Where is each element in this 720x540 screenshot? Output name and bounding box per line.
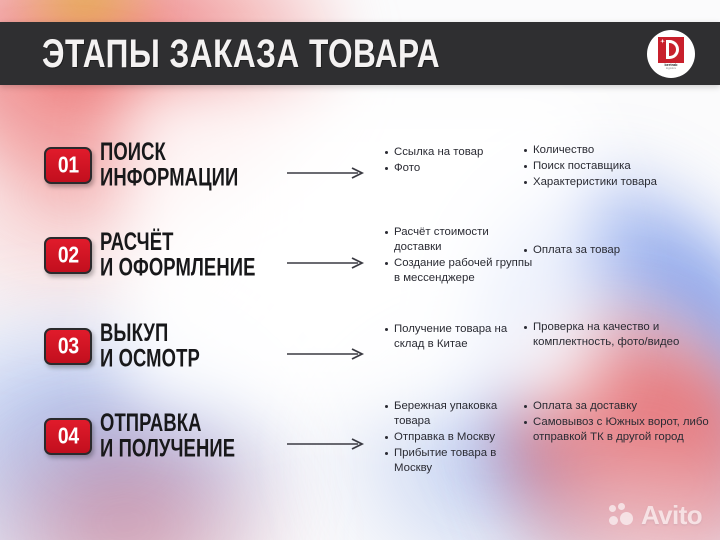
badge-number: 04: [58, 425, 79, 448]
step-row-03: 03 ВЫКУП И ОСМОТР Получение товара на ск…: [0, 300, 720, 390]
step-column-b-02: Оплата за товар: [522, 243, 712, 259]
poster-canvas: ЭТАПЫ ЗАКАЗА ТОВАРА bertrab logistics 01…: [0, 0, 720, 540]
brand-logo: bertrab logistics: [647, 30, 695, 78]
list-item: Получение товара на склад в Китае: [383, 322, 533, 352]
list-item: Характеристики товара: [522, 175, 712, 190]
list-item: Поиск поставщика: [522, 159, 712, 174]
bullet-list: Проверка на качество и комплектность, фо…: [522, 320, 712, 350]
logo-spark-icon: [660, 39, 665, 44]
bullet-list: Бережная упаковка товара Отправка в Моск…: [383, 399, 533, 476]
step-title-line2: И ОСМОТР: [100, 347, 200, 372]
step-title-02: РАСЧЁТ И ОФОРМЛЕНИЕ: [100, 231, 256, 281]
step-title-line1: ВЫКУП: [100, 322, 200, 347]
arrow-right-icon: [287, 348, 365, 360]
bullet-list: Расчёт стоимости доставки Создание рабоч…: [383, 225, 533, 286]
list-item: Прибытие товара в Москву: [383, 446, 533, 476]
step-column-b-04: Оплата за доставку Самовывоз с Южных вор…: [522, 399, 712, 446]
logo-mark-icon: [658, 37, 684, 63]
list-item: Отправка в Москву: [383, 430, 533, 445]
step-badge-03: 03: [44, 328, 92, 365]
badge-box: 01: [44, 147, 92, 184]
list-item: Ссылка на товар: [383, 145, 533, 160]
logo-subtext: logistics: [666, 68, 676, 71]
list-item: Оплата за товар: [522, 243, 712, 258]
step-title-line1: ОТПРАВКА: [100, 412, 235, 437]
step-badge-02: 02: [44, 237, 92, 274]
arrow-right-icon: [287, 257, 365, 269]
step-title-line2: И ОФОРМЛЕНИЕ: [100, 256, 256, 281]
avito-watermark: Avito: [609, 502, 702, 528]
step-title-03: ВЫКУП И ОСМОТР: [100, 322, 200, 372]
list-item: Фото: [383, 161, 533, 176]
bullet-list: Количество Поиск поставщика Характеристи…: [522, 143, 712, 190]
step-row-01: 01 ПОИСК ИНФОРМАЦИИ Ссылка на товар Фото: [0, 120, 720, 210]
step-column-a-04: Бережная упаковка товара Отправка в Моск…: [383, 399, 533, 477]
list-item: Бережная упаковка товара: [383, 399, 533, 429]
list-item: Расчёт стоимости доставки: [383, 225, 533, 255]
step-column-a-01: Ссылка на товар Фото: [383, 145, 533, 177]
step-badge-01: 01: [44, 147, 92, 184]
bullet-list: Ссылка на товар Фото: [383, 145, 533, 176]
page-title: ЭТАПЫ ЗАКАЗА ТОВАРА: [42, 34, 440, 73]
step-column-b-01: Количество Поиск поставщика Характеристи…: [522, 143, 712, 191]
step-column-a-02: Расчёт стоимости доставки Создание рабоч…: [383, 225, 533, 287]
step-row-04: 04 ОТПРАВКА И ПОЛУЧЕНИЕ Бережная упаковк…: [0, 390, 720, 480]
arrow-right-icon: [287, 438, 365, 450]
arrow-right-icon: [287, 167, 365, 179]
badge-number: 02: [58, 244, 79, 267]
list-item: Оплата за доставку: [522, 399, 712, 414]
bullet-list: Получение товара на склад в Китае: [383, 322, 533, 352]
step-column-b-03: Проверка на качество и комплектность, фо…: [522, 320, 712, 351]
step-title-line2: ИНФОРМАЦИИ: [100, 166, 238, 191]
header-bar: ЭТАПЫ ЗАКАЗА ТОВАРА bertrab logistics: [0, 22, 720, 85]
badge-box: 03: [44, 328, 92, 365]
avito-wordmark: Avito: [641, 502, 702, 528]
step-row-02: 02 РАСЧЁТ И ОФОРМЛЕНИЕ Расчёт стоимости …: [0, 210, 720, 300]
list-item: Количество: [522, 143, 712, 158]
steps-list: 01 ПОИСК ИНФОРМАЦИИ Ссылка на товар Фото: [0, 120, 720, 480]
step-badge-04: 04: [44, 418, 92, 455]
badge-number: 01: [58, 154, 79, 177]
step-column-a-03: Получение товара на склад в Китае: [383, 322, 533, 353]
badge-box: 04: [44, 418, 92, 455]
badge-number: 03: [58, 335, 79, 358]
badge-box: 02: [44, 237, 92, 274]
step-title-04: ОТПРАВКА И ПОЛУЧЕНИЕ: [100, 412, 235, 462]
step-title-line1: РАСЧЁТ: [100, 231, 256, 256]
step-title-01: ПОИСК ИНФОРМАЦИИ: [100, 141, 238, 191]
bullet-list: Оплата за товар: [522, 243, 712, 258]
step-title-line1: ПОИСК: [100, 141, 238, 166]
list-item: Создание рабочей группы в мессенджере: [383, 256, 533, 286]
step-title-line2: И ПОЛУЧЕНИЕ: [100, 437, 235, 462]
avito-dots-icon: [609, 503, 635, 527]
list-item: Проверка на качество и комплектность, фо…: [522, 320, 712, 350]
list-item: Самовывоз с Южных ворот, либо отправкой …: [522, 415, 712, 445]
bullet-list: Оплата за доставку Самовывоз с Южных вор…: [522, 399, 712, 445]
